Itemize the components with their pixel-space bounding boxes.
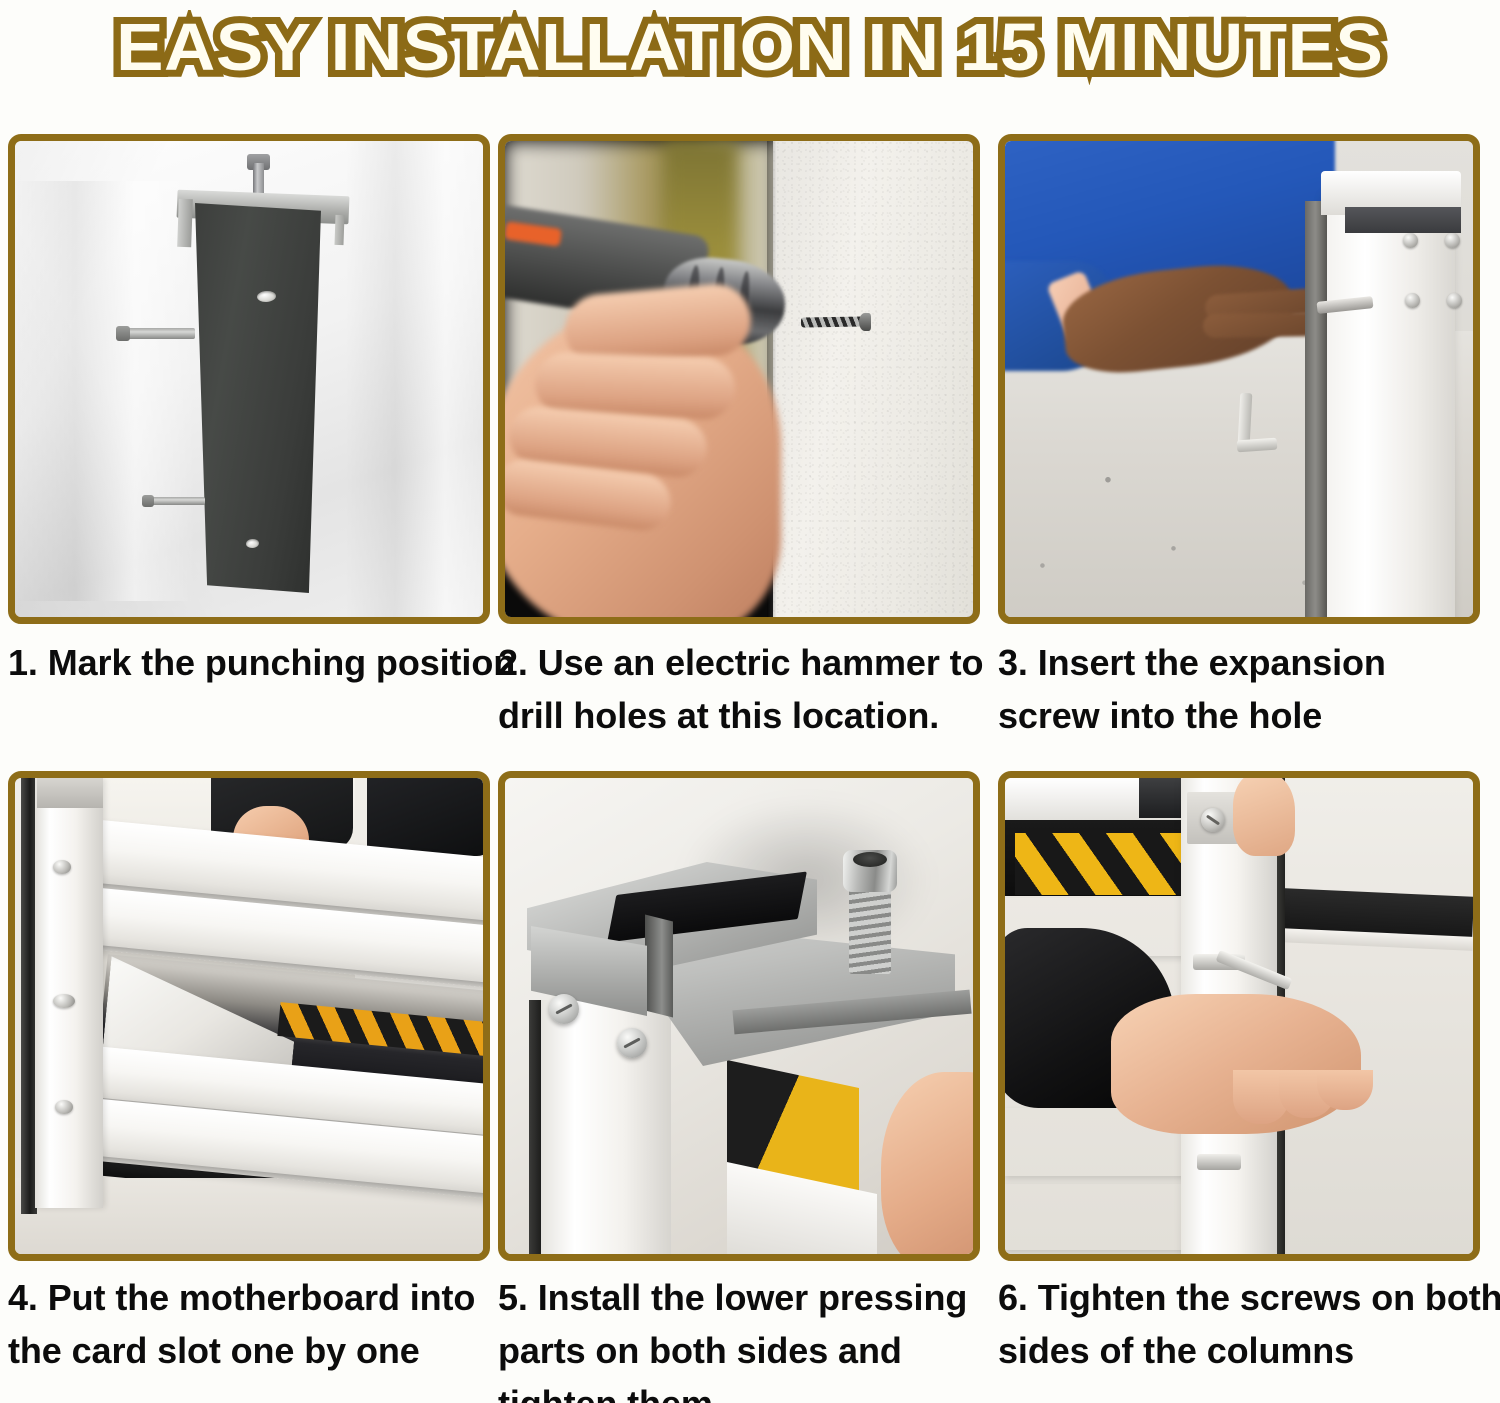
step-caption-cell-3: 3. Insert the expansion screw into the h… [998, 626, 1492, 771]
hex-bolt-thread [849, 886, 891, 974]
steps-grid: 1. Mark the punching position 2. Use an … [8, 134, 1492, 1394]
person-torso [367, 778, 483, 856]
plate-cap-left-lip [177, 199, 193, 247]
board-slat [1005, 1184, 1187, 1250]
step-photo-cell-1 [8, 134, 498, 626]
thumb [1233, 778, 1295, 856]
hex-bolt-socket [853, 852, 887, 867]
step-photo-cell-4 [8, 771, 498, 1261]
step-caption-cell-1: 1. Mark the punching position [8, 626, 498, 771]
step-caption-cell-4: 4. Put the motherboard into the card slo… [8, 1261, 498, 1397]
column-screw [1445, 233, 1460, 248]
photo-2-drill-holes [505, 141, 973, 617]
caption-line: 6. Tighten the screws on both [998, 1271, 1476, 1324]
photo-frame-2 [498, 134, 980, 624]
post-screw [53, 994, 75, 1008]
step-caption-cell-2: 2. Use an electric hammer to drill holes… [498, 626, 998, 771]
page-title: EASY INSTALLATION IN 15 MINUTES [116, 13, 1383, 83]
white-column [1327, 195, 1455, 617]
column-screw [1405, 293, 1420, 308]
caption-line: 1. Mark the punching position [8, 636, 482, 689]
column-screw [1201, 808, 1225, 832]
photo-5-lower-pressing-parts [505, 778, 973, 1254]
allen-wrench-short-arm [1237, 438, 1278, 453]
post-screw [53, 860, 71, 874]
hand-tightening-screw [1111, 994, 1361, 1134]
step-photo-cell-5 [498, 771, 998, 1261]
photo-frame-6 [998, 771, 1480, 1261]
bracket-screw [549, 994, 579, 1024]
column-screw [1447, 293, 1462, 308]
expansion-stud-lower [149, 497, 205, 505]
caption-line: the card slot one by one [8, 1324, 482, 1377]
caption-line: 3. Insert the expansion [998, 636, 1476, 689]
photo-3-insert-expansion-screw [1005, 141, 1473, 617]
step-caption-3: 3. Insert the expansion screw into the h… [998, 626, 1476, 742]
header-banner: EASY INSTALLATION IN 15 MINUTES [0, 0, 1500, 96]
column-bolt-lower [1197, 1154, 1241, 1170]
caption-line: sides of the columns [998, 1324, 1476, 1377]
caption-line: 4. Put the motherboard into [8, 1271, 482, 1324]
photo-frame-5 [498, 771, 980, 1261]
photo-frame-3 [998, 134, 1480, 624]
hazard-stripe-tape [1015, 833, 1185, 895]
step-caption-4: 4. Put the motherboard into the card slo… [8, 1261, 482, 1377]
step-caption-6: 6. Tighten the screws on both sides of t… [998, 1261, 1476, 1377]
photo-6-tighten-screws [1005, 778, 1473, 1254]
caption-line: 5. Install the lower pressing [498, 1271, 982, 1324]
bracket-lip [645, 915, 673, 1018]
photo-frame-1 [8, 134, 490, 624]
step-caption-cell-5: 5. Install the lower pressing parts on b… [498, 1261, 998, 1397]
black-mounting-plate [191, 203, 325, 593]
column-screw [1403, 233, 1418, 248]
fabric-fold [15, 181, 195, 601]
step-caption-cell-6: 6. Tighten the screws on both sides of t… [998, 1261, 1492, 1397]
white-textured-wall [773, 141, 973, 617]
step-photo-cell-2 [498, 134, 998, 626]
white-post [541, 1000, 671, 1254]
white-post [35, 778, 103, 1208]
caption-line: screw into the hole [998, 689, 1476, 742]
caption-line: 2. Use an electric hammer to [498, 636, 982, 689]
post-screw [55, 1100, 73, 1114]
drill-bit [801, 316, 865, 327]
post-top-cap [37, 778, 103, 808]
caption-line: tighten them [498, 1377, 982, 1403]
caption-line: parts on both sides and [498, 1324, 982, 1377]
infographic-page: EASY INSTALLATION IN 15 MINUTES [0, 0, 1500, 1403]
step-caption-2: 2. Use an electric hammer to drill holes… [498, 626, 982, 742]
expansion-stud-upper [125, 328, 195, 339]
bracket-screw [617, 1028, 647, 1058]
step-caption-5: 5. Install the lower pressing parts on b… [498, 1261, 982, 1403]
photo-1-mark-punching-position [15, 141, 483, 617]
photo-4-insert-boards [15, 778, 483, 1254]
step-caption-1: 1. Mark the punching position [8, 626, 482, 689]
allen-wrench-long-arm [1238, 393, 1253, 446]
step-photo-cell-3 [998, 134, 1492, 626]
caption-line: drill holes at this location. [498, 689, 982, 742]
plate-cap-right-lip [334, 215, 344, 245]
allen-wrench [1229, 393, 1275, 455]
step-photo-cell-6 [998, 771, 1492, 1261]
column-top-recess [1345, 207, 1461, 233]
drill-bit-tip [859, 313, 871, 331]
photo-frame-4 [8, 771, 490, 1261]
fabric-fold [345, 141, 483, 617]
